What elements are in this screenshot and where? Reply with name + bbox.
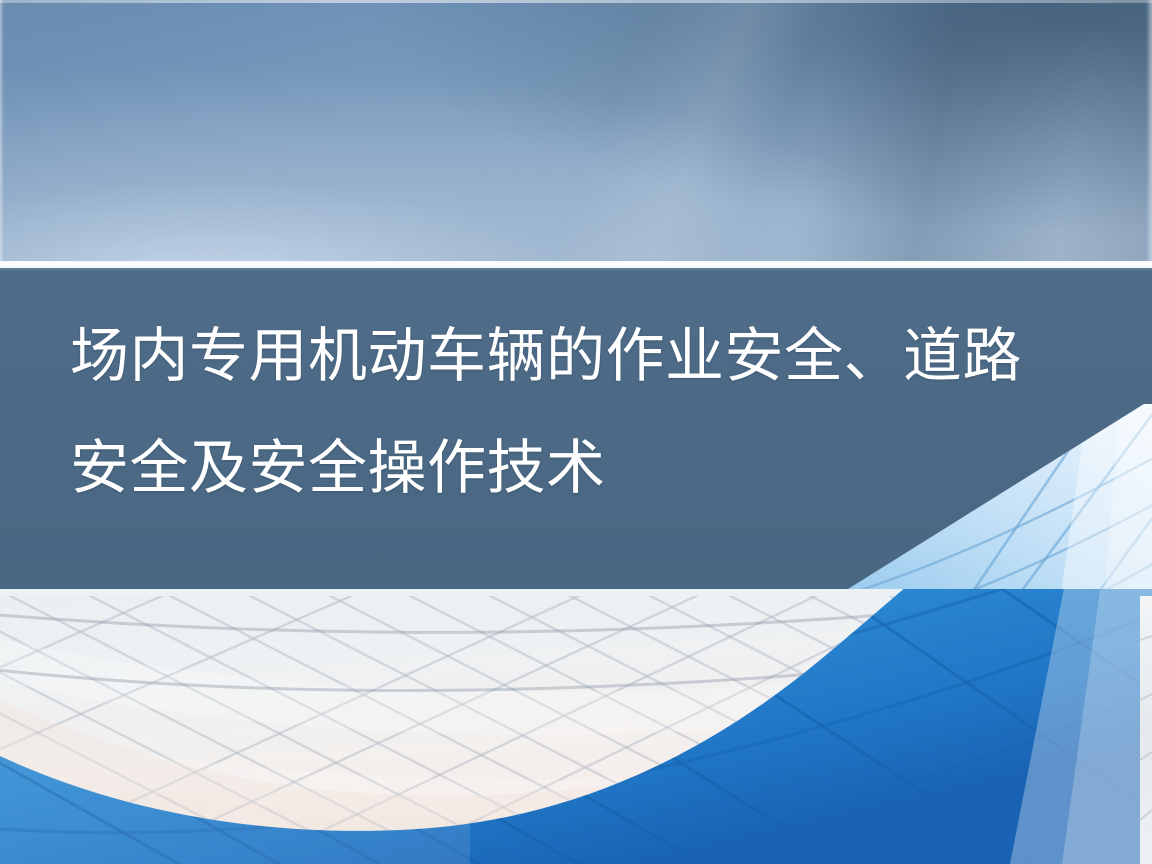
- title-slide: 场内专用机动车辆的作业安全、道路安全及安全操作技术: [0, 0, 1152, 864]
- page-title: 场内专用机动车辆的作业安全、道路安全及安全操作技术: [70, 300, 1080, 524]
